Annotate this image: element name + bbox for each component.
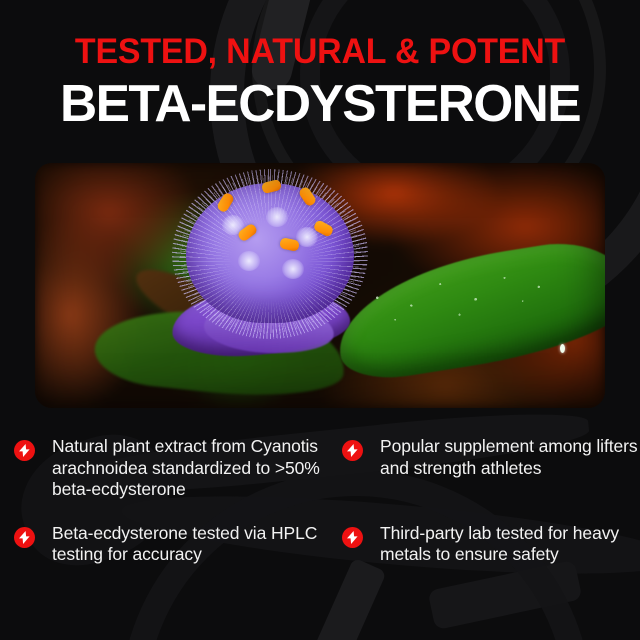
list-item-label: Third-party lab tested for heavy metals … xyxy=(380,523,640,566)
list-item: Beta-ecdysterone tested via HPLC testing… xyxy=(0,523,330,566)
feature-row: Natural plant extract from Cyanotis arac… xyxy=(0,436,640,501)
product-marketing-card: TESTED, NATURAL & POTENT BETA-ECDYSTERON… xyxy=(0,0,640,640)
photo-flower-hairs-inner xyxy=(180,175,360,333)
photo-dew-drop xyxy=(560,344,565,353)
photo-flower xyxy=(170,177,370,373)
feature-row: Beta-ecdysterone tested via HPLC testing… xyxy=(0,523,640,566)
kicker-text: TESTED, NATURAL & POTENT xyxy=(10,34,631,69)
list-item-label: Natural plant extract from Cyanotis arac… xyxy=(52,436,330,501)
list-item: Natural plant extract from Cyanotis arac… xyxy=(0,436,330,501)
list-item: Third-party lab tested for heavy metals … xyxy=(330,523,640,566)
photo-flower-tuft xyxy=(282,259,304,279)
photo-flower-tuft xyxy=(266,207,288,227)
page-title: BETA-ECDYSTERONE xyxy=(3,78,637,130)
lightning-bolt-icon xyxy=(14,440,35,461)
product-photo xyxy=(35,163,605,408)
list-item-label: Beta-ecdysterone tested via HPLC testing… xyxy=(52,523,330,566)
lightning-bolt-icon xyxy=(14,527,35,548)
feature-list: Natural plant extract from Cyanotis arac… xyxy=(0,436,640,566)
photo-flower-tuft xyxy=(238,251,260,271)
lightning-bolt-icon xyxy=(342,527,363,548)
lightning-bolt-icon xyxy=(342,440,363,461)
list-item-label: Popular supplement among lifters and str… xyxy=(380,436,640,479)
list-item: Popular supplement among lifters and str… xyxy=(330,436,640,501)
headline-block: TESTED, NATURAL & POTENT BETA-ECDYSTERON… xyxy=(0,34,640,130)
